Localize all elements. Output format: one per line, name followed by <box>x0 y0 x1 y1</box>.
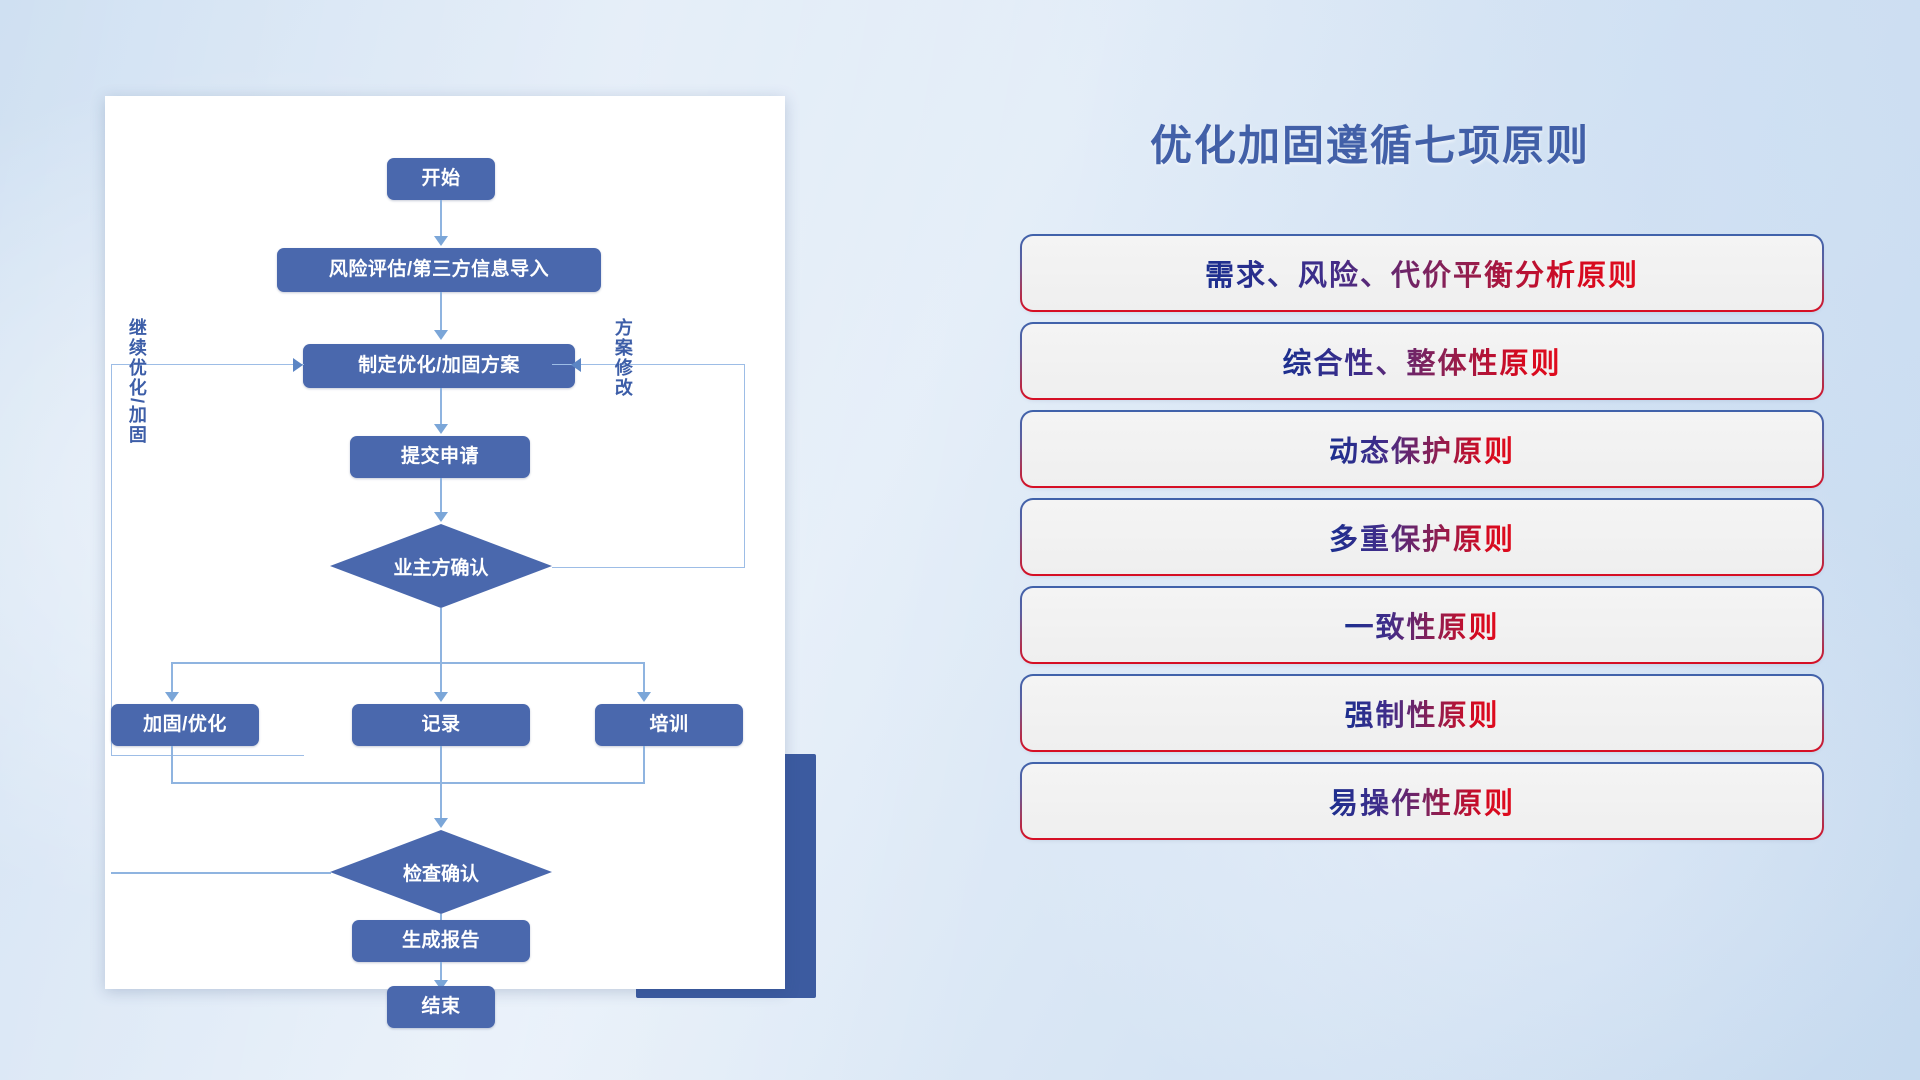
arrow-start-to-risk <box>434 236 448 246</box>
flow-node-risk-assessment-label: 风险评估/第三方信息导入 <box>329 259 549 281</box>
connector-inspect-fail-back <box>111 872 331 874</box>
principle-card[interactable]: 需求、风险、代价平衡分析原则 <box>1022 236 1822 310</box>
flowchart-canvas: 开始 风险评估/第三方信息导入 制定优化/加固方案 提交申请 业主方确认 继续优 <box>105 96 785 989</box>
arrow-branch-mid <box>434 692 448 702</box>
flow-decision-owner-confirm-label: 业主方确认 <box>393 553 488 580</box>
flow-node-generate-report[interactable]: 生成报告 <box>352 920 530 962</box>
page-title: 优化加固遵循七项原则 <box>1150 112 1590 173</box>
connector-owner-down <box>440 608 442 662</box>
principle-card[interactable]: 易操作性原则 <box>1022 764 1822 838</box>
connector-reinforce-down <box>171 746 173 782</box>
principle-label: 强制性原则 <box>1344 692 1499 734</box>
flow-node-end-label: 结束 <box>421 996 460 1018</box>
flow-node-start[interactable]: 开始 <box>387 158 495 200</box>
flowchart-card: 开始 风险评估/第三方信息导入 制定优化/加固方案 提交申请 业主方确认 继续优 <box>105 96 785 989</box>
flow-decision-owner-confirm[interactable]: 业主方确认 <box>330 524 552 608</box>
principle-label: 一致性原则 <box>1344 604 1499 646</box>
flow-decision-inspect-confirm[interactable]: 检查确认 <box>330 830 552 914</box>
connector-branch-bus <box>171 662 645 664</box>
flow-node-submit-label: 提交申请 <box>401 446 479 468</box>
arrow-left-loop-into-plan <box>293 358 303 372</box>
principle-label: 综合性、整体性原则 <box>1282 340 1561 382</box>
flow-node-submit[interactable]: 提交申请 <box>350 436 530 478</box>
principle-card[interactable]: 动态保护原则 <box>1022 412 1822 486</box>
principle-label: 动态保护原则 <box>1329 428 1515 470</box>
arrow-submit-to-owner <box>434 512 448 522</box>
connector-training-down <box>643 746 645 782</box>
principles-list: 需求、风险、代价平衡分析原则 综合性、整体性原则 动态保护原则 多重保护原则 一… <box>1022 236 1822 852</box>
flow-node-training-label: 培训 <box>649 714 688 736</box>
arrow-branch-right <box>637 692 651 702</box>
loop-right-label: 方案修改 <box>613 318 632 398</box>
flow-node-reinforce-label: 加固/优化 <box>143 714 227 736</box>
flow-node-record[interactable]: 记录 <box>352 704 530 746</box>
flow-decision-inspect-confirm-label: 检查确认 <box>403 859 479 886</box>
flow-node-risk-assessment[interactable]: 风险评估/第三方信息导入 <box>277 248 601 292</box>
loop-right-path <box>552 364 745 568</box>
arrow-merge-to-inspect <box>434 818 448 828</box>
principle-label: 易操作性原则 <box>1329 780 1515 822</box>
arrow-plan-to-submit <box>434 424 448 434</box>
flow-node-reinforce[interactable]: 加固/优化 <box>111 704 259 746</box>
arrow-right-loop-into-plan <box>571 358 581 372</box>
principle-card[interactable]: 一致性原则 <box>1022 588 1822 662</box>
flow-node-generate-report-label: 生成报告 <box>402 930 480 952</box>
flow-node-training[interactable]: 培训 <box>595 704 743 746</box>
principle-card[interactable]: 强制性原则 <box>1022 676 1822 750</box>
flow-node-end[interactable]: 结束 <box>387 986 495 1028</box>
loop-left-label: 继续优化/加固 <box>127 318 146 445</box>
principle-label: 多重保护原则 <box>1329 516 1515 558</box>
principle-card[interactable]: 综合性、整体性原则 <box>1022 324 1822 398</box>
flow-node-start-label: 开始 <box>421 168 460 190</box>
flow-node-plan-label: 制定优化/加固方案 <box>358 355 520 377</box>
flow-node-plan[interactable]: 制定优化/加固方案 <box>303 344 575 388</box>
arrow-risk-to-plan <box>434 330 448 340</box>
flow-node-record-label: 记录 <box>421 714 460 736</box>
arrow-branch-left <box>165 692 179 702</box>
principle-label: 需求、风险、代价平衡分析原则 <box>1205 252 1639 294</box>
connector-record-down <box>440 746 442 824</box>
connector-merge-bus <box>171 782 645 784</box>
principle-card[interactable]: 多重保护原则 <box>1022 500 1822 574</box>
